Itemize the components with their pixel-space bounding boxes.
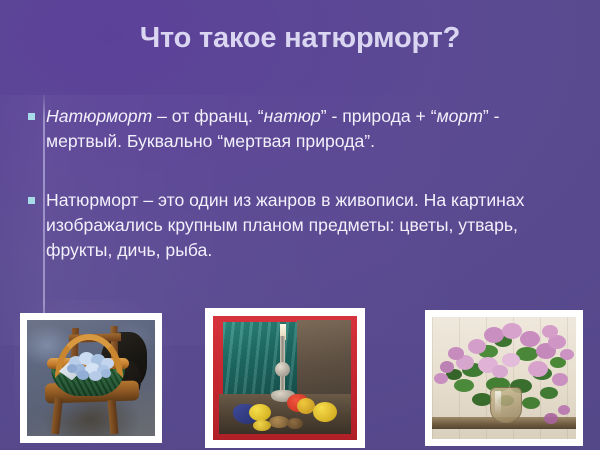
bullet-item-definition: Натюрморт – от франц. “натюр” - природа … xyxy=(22,104,578,154)
bullet-text-genre: Натюрморт – это один из жанров в живопис… xyxy=(46,188,578,263)
still-life-lilacs-in-vase[interactable] xyxy=(425,310,583,446)
painting-canvas-candlestick xyxy=(213,316,357,440)
painting-canvas-basket xyxy=(27,320,155,436)
potato-left xyxy=(269,416,289,428)
lemon-left xyxy=(249,404,271,421)
candlestick-knob xyxy=(275,362,290,377)
bullet-text-definition: Натюрморт – от франц. “натюр” - природа … xyxy=(46,104,578,154)
bullet-list: Натюрморт – от франц. “натюр” - природа … xyxy=(22,104,578,263)
vase-highlight xyxy=(495,391,501,415)
square-bullet-icon xyxy=(28,113,35,120)
still-life-basket-on-chair[interactable] xyxy=(20,313,162,443)
brown-panel xyxy=(297,320,351,400)
potato-right xyxy=(287,418,303,429)
painting-canvas-lilacs xyxy=(432,317,576,439)
bullet-item-genre: Натюрморт – это один из жанров в живопис… xyxy=(22,188,578,263)
blue-flower-cluster xyxy=(67,352,119,380)
still-life-candlestick-fruit[interactable] xyxy=(205,308,365,448)
lemon-front xyxy=(253,420,271,431)
slide-title: Что такое натюрморт? xyxy=(0,22,600,55)
lemon-right xyxy=(313,402,337,422)
presentation-slide: Что такое натюрморт? Натюрморт – от фран… xyxy=(0,0,600,450)
square-bullet-icon xyxy=(28,197,35,204)
